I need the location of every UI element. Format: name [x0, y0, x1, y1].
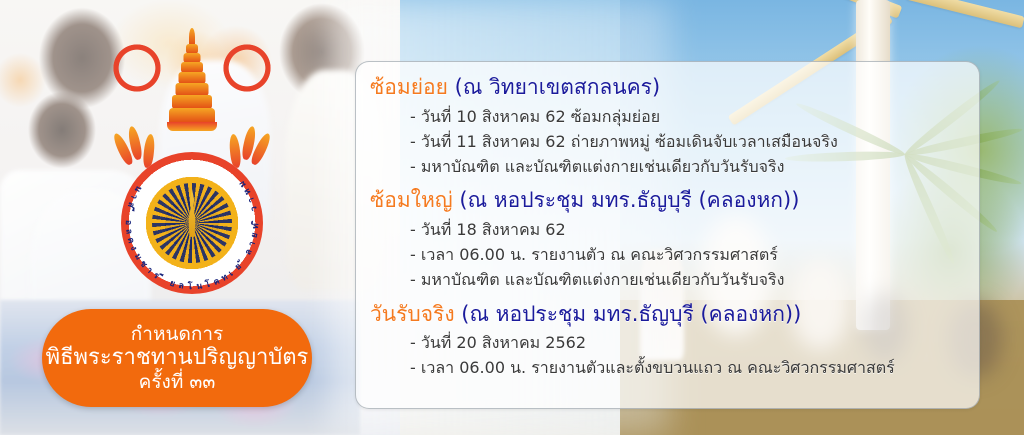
section-bullet-list: - วันที่ 18 สิงหาคม 62 - เวลา 06.00 น. ร…	[370, 217, 961, 293]
seal-ring-char: ี	[123, 210, 137, 213]
badge-line-2: พิธีพระราชทานปริญญาบัตร	[46, 345, 309, 371]
schedule-badge: กำหนดการ พิธีพระราชทานปริญญาบัตร ครั้งที…	[42, 309, 312, 407]
list-item: - วันที่ 20 สิงหาคม 2562	[370, 330, 961, 355]
list-item: - วันที่ 18 สิงหาคม 62	[370, 217, 961, 242]
badge-line-1: กำหนดการ	[131, 323, 223, 345]
seal-ring-char: โ	[204, 277, 211, 292]
list-item: - วันที่ 10 สิงหาคม 62 ซ้อมกลุ่มย่อย	[370, 104, 961, 129]
seal-ring-char: ล	[177, 278, 185, 293]
seal-ring-text: มหาวิทยาลัยเทคโนโลยีราชมงคลอีสาน	[121, 152, 263, 294]
section-heading: ซ้อมใหญ่ (ณ หอประชุม มทร.ธัญบุรี (คลองหก…	[370, 185, 961, 217]
section-title: ซ้อมย่อย	[370, 75, 448, 99]
rmuti-logo: มหาวิทยาลัยเทคโนโลยีราชมงคลอีสาน	[118, 28, 266, 298]
seal-ring-char: า	[243, 196, 258, 205]
seal-ring-char: ิ	[248, 220, 262, 221]
section-place: (ณ หอประชุม มทร.ธัญบุรี (คลองหก))	[459, 188, 799, 212]
section-bullet-list: - วันที่ 10 สิงหาคม 62 ซ้อมกลุ่มย่อย - ว…	[370, 104, 961, 180]
seal-ring-char: ล	[122, 228, 136, 234]
section-heading: ซ้อมย่อย (ณ วิทยาเขตสกลนคร)	[370, 72, 961, 104]
section-title: ซ้อมใหญ่	[370, 188, 453, 212]
badge-line-3: ครั้งที่ ๓๓	[139, 371, 216, 393]
section-place: (ณ วิทยาเขตสกลนคร)	[455, 75, 661, 99]
section-ceremony-day: วันรับจริง (ณ หอประชุม มทร.ธัญบุรี (คลอง…	[370, 299, 961, 381]
schedule-panel: ซ้อมย่อย (ณ วิทยาเขตสกลนคร) - วันที่ 10 …	[355, 61, 980, 409]
seal-ring-char: น	[196, 278, 203, 292]
seal-ring-char: โ	[187, 279, 193, 293]
seal-ring-char: ว	[246, 205, 261, 212]
university-seal: มหาวิทยาลัยเทคโนโลยีราชมงคลอีสาน	[121, 152, 263, 294]
list-item: - มหาบัณฑิต และบัณฑิตแต่งกายเช่นเดียวกับ…	[370, 154, 961, 179]
seal-ring-char: ท	[248, 223, 262, 230]
list-item: - เวลา 06.00 น. รายงานตัวและตั้งขบวนแถว …	[370, 355, 961, 380]
seal-ring-char: ย	[231, 260, 244, 273]
seal-ring-char: อ	[122, 220, 136, 226]
seal-ring-char: ง	[127, 243, 142, 252]
section-heading: วันรับจริง (ณ หอประชุม มทร.ธัญบุรี (คลอง…	[370, 299, 961, 331]
list-item: - เวลา 06.00 น. รายงานตัว ณ คณะวิศวกรรมศ…	[370, 242, 961, 267]
seal-ring-char: ล	[241, 246, 256, 257]
banner-root: มหาวิทยาลัยเทคโนโลยีราชมงคลอีสาน กำหนดกา…	[0, 0, 1024, 435]
section-rehearsal-minor: ซ้อมย่อย (ณ วิทยาเขตสกลนคร) - วันที่ 10 …	[370, 72, 961, 179]
section-rehearsal-major: ซ้อมใหญ่ (ณ หอประชุม มทร.ธัญบุรี (คลองหก…	[370, 185, 961, 292]
section-place: (ณ หอประชุม มทร.ธัญบุรี (คลองหก))	[461, 302, 801, 326]
seal-ring-char: ย	[168, 276, 178, 291]
section-title: วันรับจริง	[370, 302, 455, 326]
section-bullet-list: - วันที่ 20 สิงหาคม 2562 - เวลา 06.00 น.…	[370, 330, 961, 381]
list-item: - มหาบัณฑิต และบัณฑิตแต่งกายเช่นเดียวกับ…	[370, 267, 961, 292]
list-item: - วันที่ 11 สิงหาคม 62 ถ่ายภาพหมู่ ซ้อมเ…	[370, 129, 961, 154]
seal-ring-char: ส	[124, 200, 139, 209]
seal-ring-char: ย	[246, 231, 261, 239]
